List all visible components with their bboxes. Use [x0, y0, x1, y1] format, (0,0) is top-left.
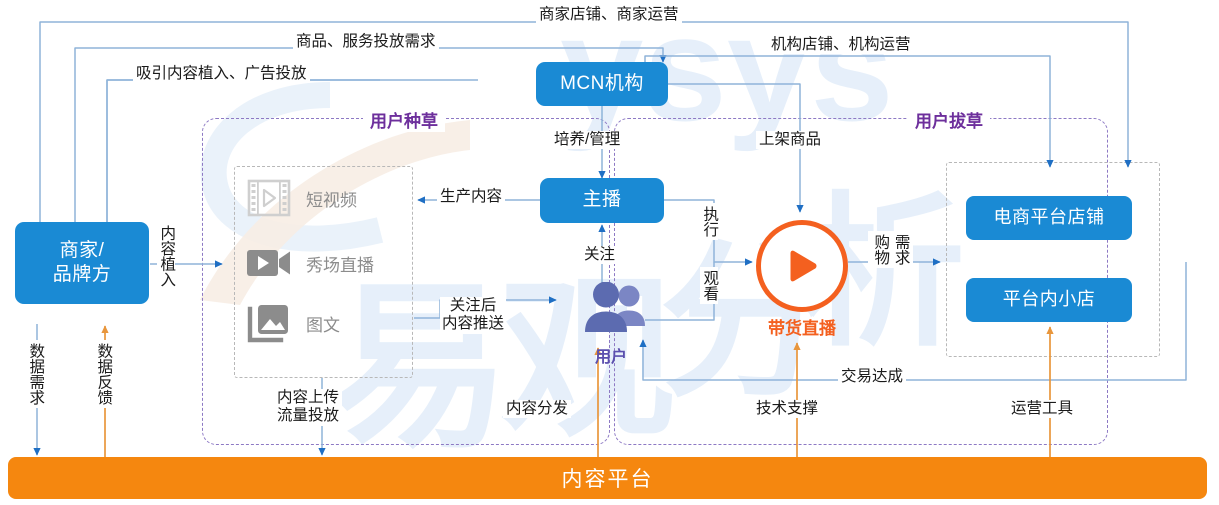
label-follow-push-line2: 内容推送	[442, 315, 504, 333]
label-tech-support: 技术支撑	[753, 400, 821, 418]
label-watch: 观看	[700, 267, 718, 304]
label-shopping-demand: 购物 需求	[868, 231, 913, 268]
shops-box	[946, 162, 1160, 357]
section-title-left: 用户种草	[363, 107, 445, 132]
node-ecommerce-shop[interactable]: 电商平台店铺	[966, 196, 1132, 240]
node-in-platform-shop[interactable]: 平台内小店	[966, 278, 1132, 322]
content-type-show-live[interactable]: 秀场直播	[246, 243, 374, 283]
content-type-label: 短视频	[306, 186, 357, 211]
label-list-goods: 上架商品	[756, 131, 824, 149]
label-agency-shop-ops: 机构店铺、机构运营	[768, 36, 914, 54]
node-merchant[interactable]: 商家/ 品牌方	[15, 222, 149, 304]
label-cultivate-manage: 培养/管理	[551, 131, 623, 149]
section-title-right: 用户拔草	[908, 107, 990, 132]
label-content-upload-line2: 流量投放	[277, 407, 339, 425]
label-merchant-shop-ops: 商家店铺、商家运营	[536, 6, 682, 24]
label-follow-push: 关注后 内容推送	[440, 297, 506, 334]
image-stack-icon	[246, 303, 292, 343]
node-anchor[interactable]: 主播	[540, 178, 664, 223]
label-shopping-demand-wrap: 购物 需求	[871, 231, 910, 268]
live-commerce-label: 带货直播	[756, 314, 848, 339]
content-type-short-video[interactable]: 短视频	[246, 178, 357, 218]
label-produce-content: 生产内容	[437, 188, 505, 206]
content-type-label: 秀场直播	[306, 251, 374, 276]
label-attract-placement: 吸引内容植入、广告投放	[133, 65, 310, 83]
film-strip-icon	[246, 178, 292, 218]
label-follow-push-line1: 关注后	[442, 297, 504, 315]
content-type-image-text[interactable]: 图文	[246, 303, 340, 343]
label-data-feedback: 数据反馈	[94, 340, 112, 408]
node-merchant-line2: 品牌方	[53, 263, 112, 287]
label-execute: 执行	[700, 203, 718, 240]
node-live-commerce[interactable]: 带货直播	[756, 220, 848, 339]
node-content-platform[interactable]: 内容平台	[8, 457, 1207, 499]
label-ops-tools: 运营工具	[1008, 400, 1076, 418]
user-label: 用户	[556, 343, 666, 367]
label-shopping-demand-line2: 需求	[891, 231, 909, 268]
label-shopping-demand-line1: 购物	[871, 231, 889, 268]
label-data-demand: 数据需求	[26, 340, 44, 408]
diagram-canvas: 易 观 分 析 ysys 用户种草 用户拔草	[0, 0, 1219, 505]
play-triangle-icon	[778, 242, 826, 290]
label-content-upload-line1: 内容上传	[277, 389, 339, 407]
node-mcn[interactable]: MCN机构	[536, 62, 668, 106]
label-content-distribute: 内容分发	[503, 400, 571, 418]
node-merchant-line1: 商家/	[53, 239, 112, 263]
label-transaction-done: 交易达成	[838, 368, 906, 386]
node-user[interactable]: 用户	[556, 282, 666, 367]
play-circle-icon	[756, 220, 848, 312]
users-icon	[573, 282, 659, 340]
content-type-label: 图文	[306, 311, 340, 336]
label-content-upload: 内容上传 流量投放	[274, 389, 342, 426]
video-camera-icon	[246, 243, 292, 283]
label-content-implant: 内容植入	[157, 222, 175, 290]
label-goods-service-demand: 商品、服务投放需求	[293, 33, 439, 51]
label-follow: 关注	[581, 246, 618, 264]
